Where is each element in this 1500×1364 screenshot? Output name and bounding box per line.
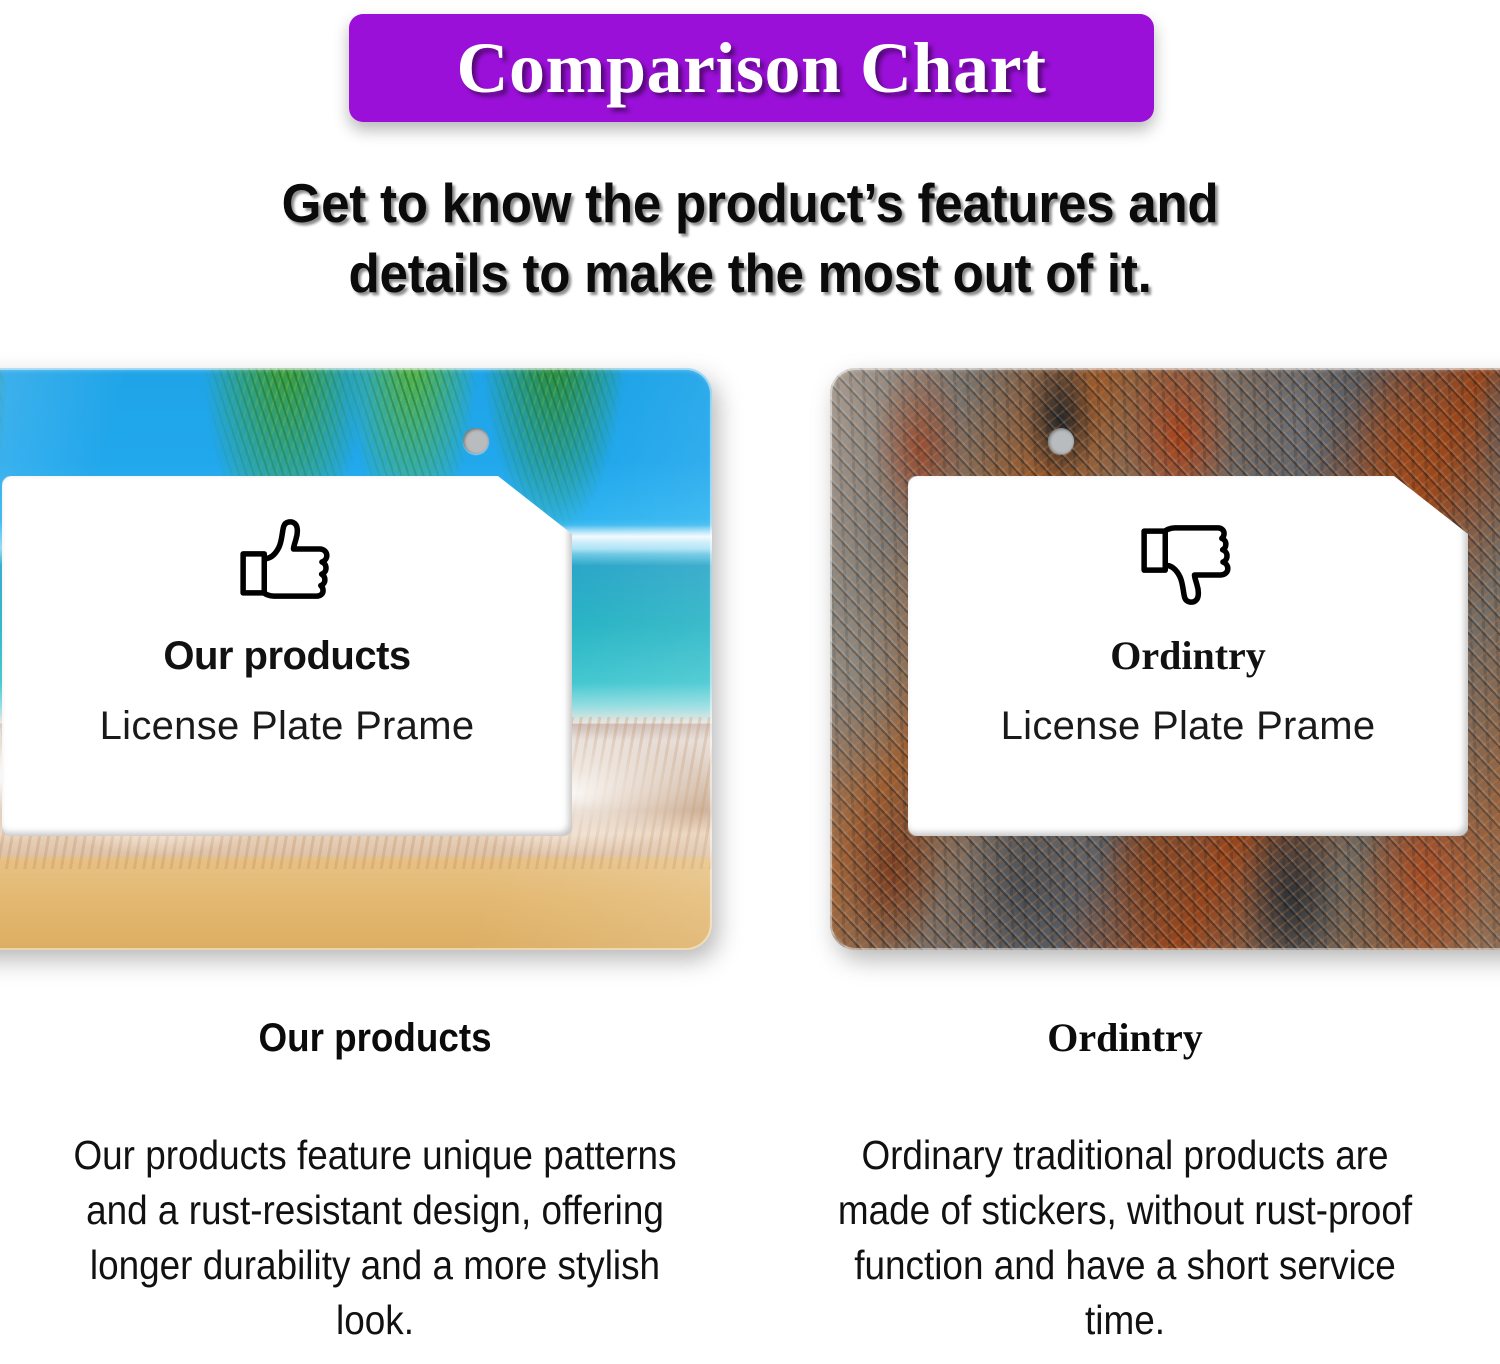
plate-window-content-left: Our products License Plate Prame	[2, 476, 572, 836]
left-window-subheading: License Plate Prame	[100, 706, 475, 746]
right-window-heading: Ordintry	[1110, 636, 1266, 676]
thumbs-down-icon	[1136, 510, 1240, 614]
product-frames-row: Our products License Plate Prame Ordintr…	[0, 358, 1500, 968]
left-window-heading: Our products	[163, 636, 410, 676]
our-products-caption-column: Our products Our products feature unique…	[0, 1018, 750, 1364]
right-caption-heading: Ordintry	[788, 1018, 1462, 1058]
page-title: Comparison Chart	[456, 32, 1046, 104]
right-window-subheading: License Plate Prame	[1001, 706, 1376, 746]
plate-window-content-right: Ordintry License Plate Prame	[908, 476, 1468, 836]
page-subtitle: Get to know the product’s features and d…	[53, 168, 1448, 309]
captions-row: Our products Our products feature unique…	[0, 1018, 1500, 1364]
subtitle-line-1: Get to know the product’s features and	[282, 172, 1219, 234]
thumbs-up-icon	[235, 510, 339, 614]
right-caption-body: Ordinary traditional products are made o…	[822, 1128, 1429, 1348]
subtitle-line-2: details to make the most out of it.	[53, 238, 1448, 308]
ordinary-caption-column: Ordintry Ordinary traditional products a…	[750, 1018, 1500, 1364]
mounting-hole	[1048, 428, 1074, 454]
plate-window-right: Ordintry License Plate Prame	[908, 476, 1468, 836]
comparison-chart-title-banner: Comparison Chart	[349, 14, 1154, 122]
our-product-license-plate-frame: Our products License Plate Prame	[0, 368, 712, 950]
plate-window-left: Our products License Plate Prame	[2, 476, 572, 836]
left-caption-heading: Our products	[65, 1018, 685, 1058]
ordinary-product-license-plate-frame: Ordintry License Plate Prame	[830, 368, 1500, 950]
left-caption-body: Our products feature unique patterns and…	[72, 1128, 679, 1348]
mounting-hole	[463, 428, 489, 454]
